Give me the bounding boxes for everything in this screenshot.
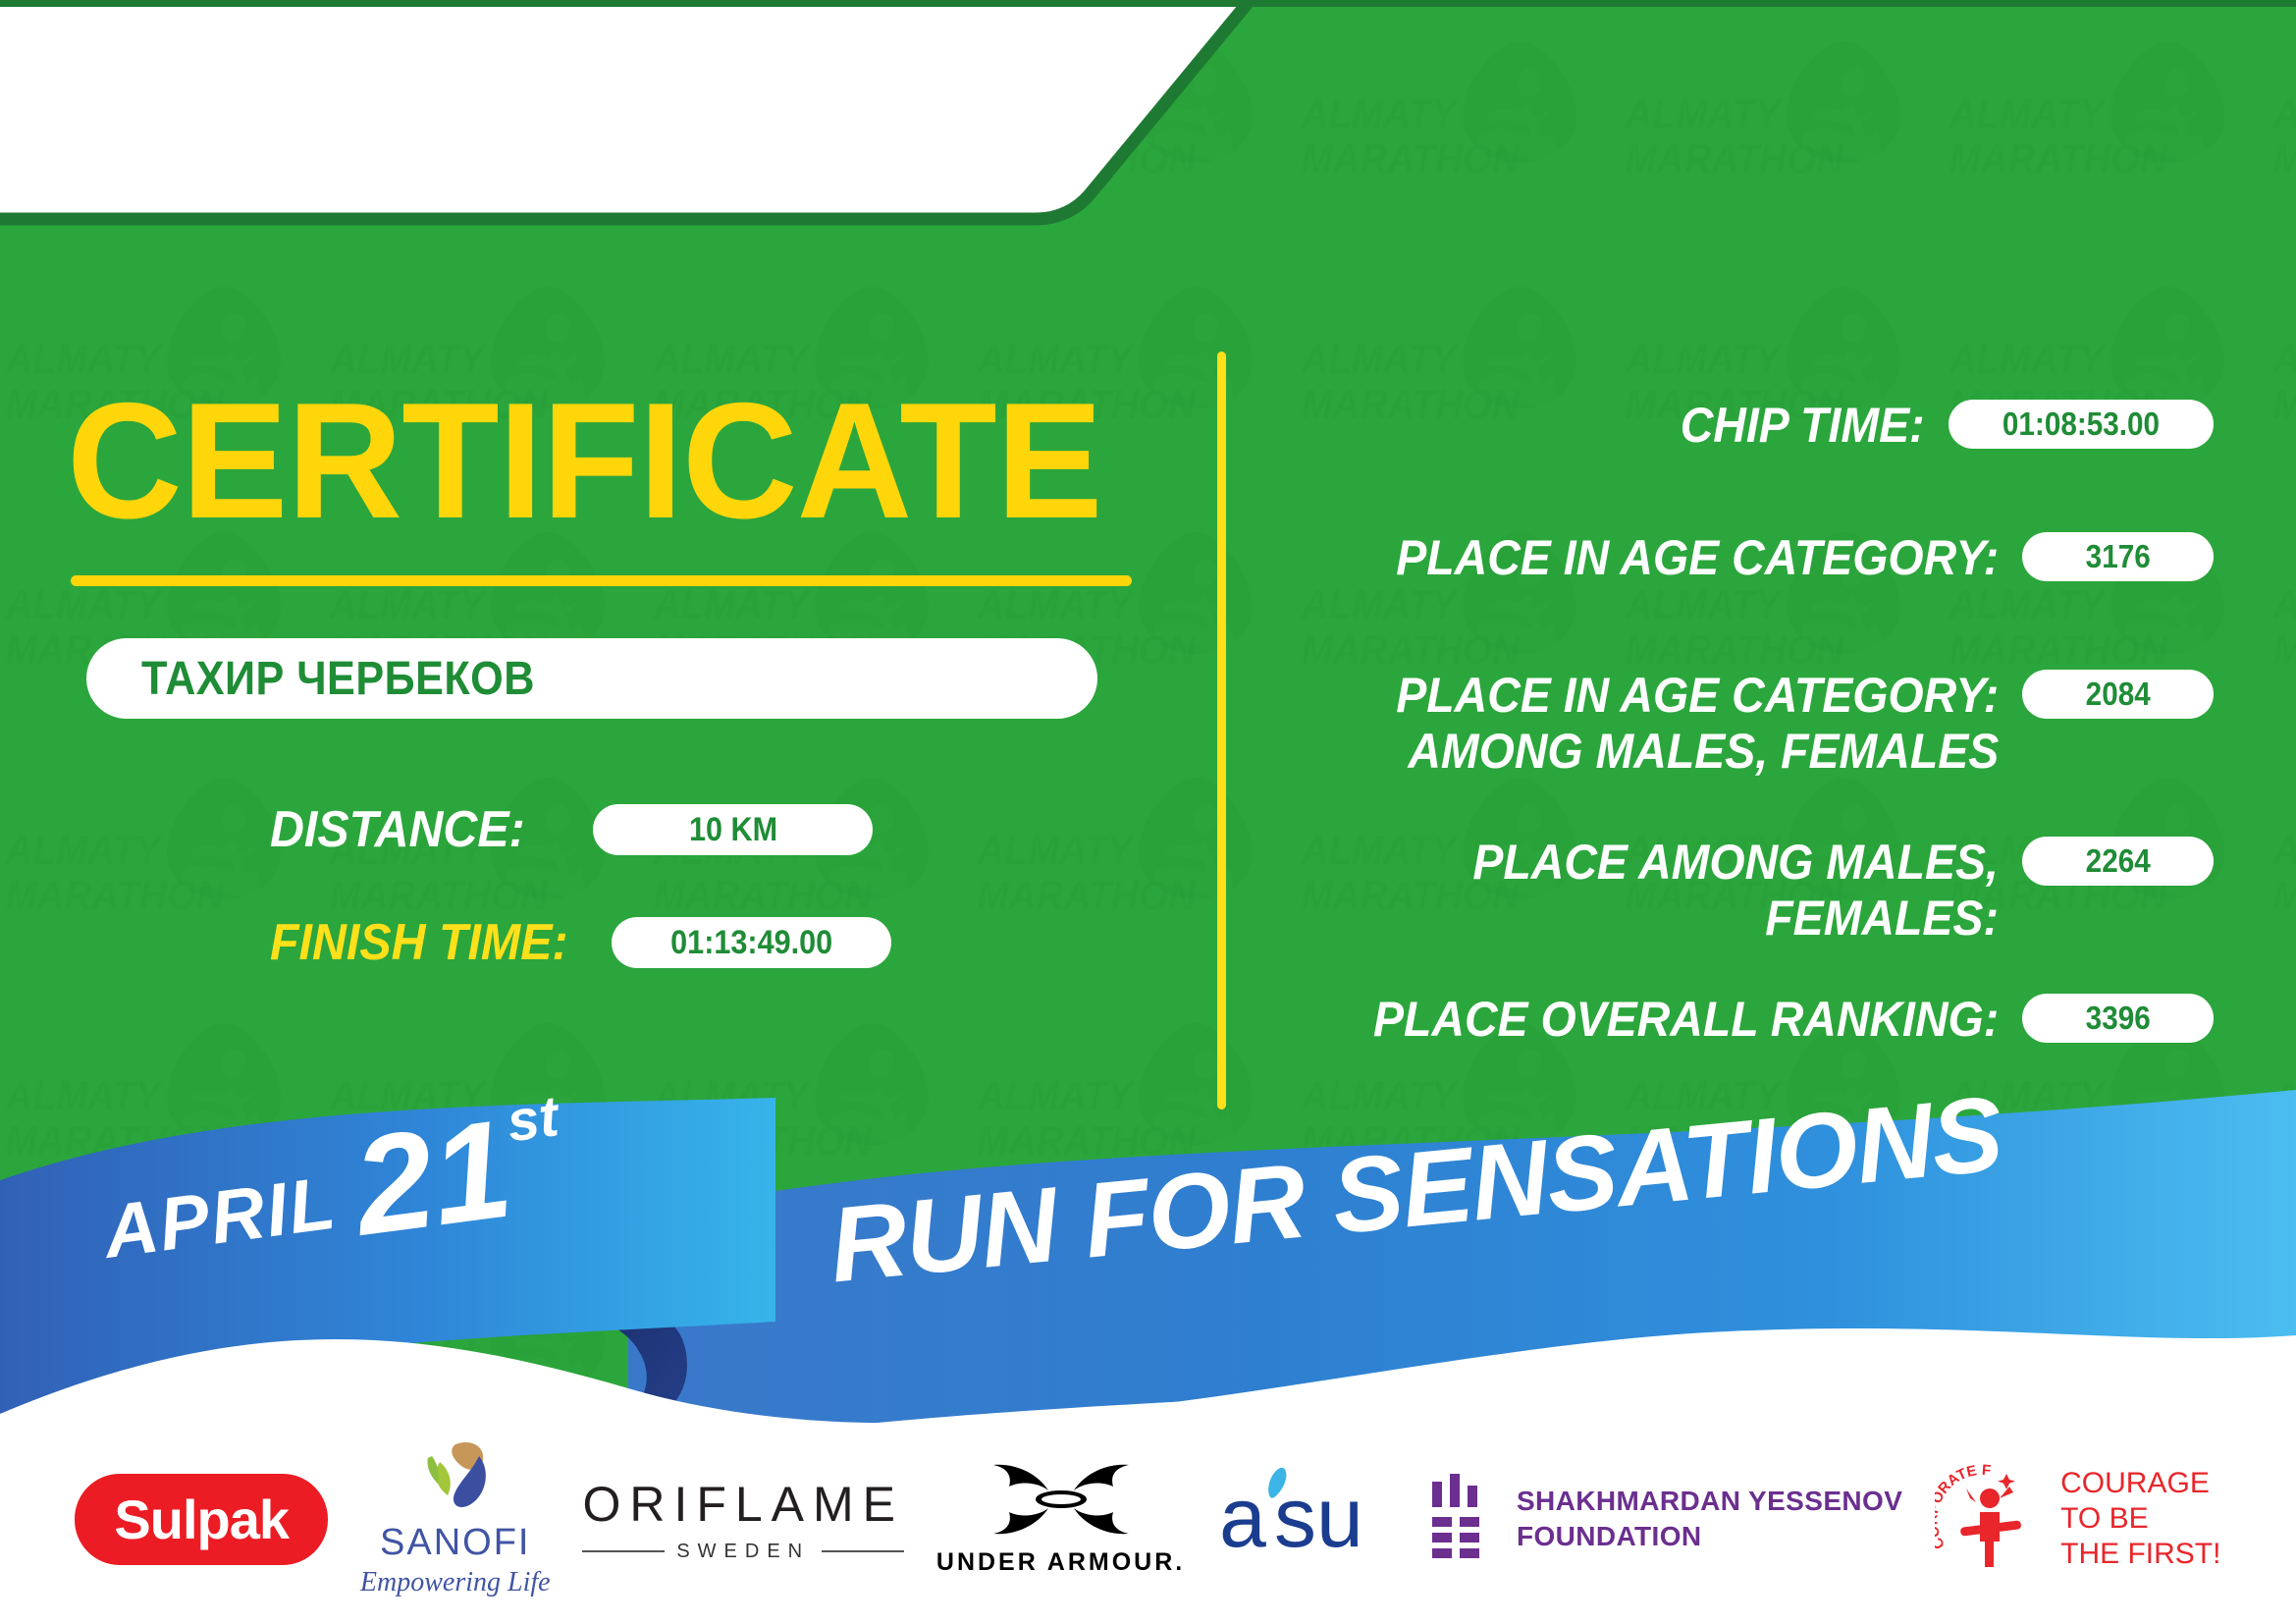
yessenov-mark-icon [1426,1472,1495,1567]
place-age-category-value: 3176 [2085,538,2150,575]
finish-time-row: FINISH TIME: 01:13:49.00 [270,913,891,972]
top-border-rule [0,0,2296,7]
place-age-category-row: PLACE IN AGE CATEGORY: 3176 [1306,530,2214,586]
sanofi-mark-icon [410,1440,501,1518]
sponsor-oriflame: ORIFLAME SWEDEN [582,1476,904,1563]
sponsor-under-armour: UNDER ARMOUR. [936,1461,1185,1577]
sponsor-asu: a su [1217,1464,1394,1575]
under-armour-icon [988,1461,1135,1543]
place-age-category-gender-value-pill: 2084 [2022,670,2214,719]
place-among-gender-value: 2264 [2085,842,2150,880]
courage-line1: COURAGE [2060,1467,2210,1499]
under-armour-name: UNDER ARMOUR. [936,1548,1185,1577]
distance-value-pill: 10 KM [593,804,873,855]
place-among-gender-value-pill: 2264 [2022,837,2214,886]
place-among-gender-row: PLACE AMONG MALES, FEMALES: 2264 [1306,835,2214,947]
sponsor-yessenov-foundation: SHAKHMARDAN YESSENOV FOUNDATION [1426,1472,1902,1567]
yessenov-line2: FOUNDATION [1517,1521,1702,1551]
oriflame-country: SWEDEN [676,1541,810,1563]
oriflame-name: ORIFLAME [582,1476,904,1533]
svg-text:su: su [1274,1471,1363,1562]
sponsor-strip: Sulpak SANOFI Empowering Life ORIFLAME S… [0,1414,2296,1624]
title-underline [71,575,1132,586]
place-overall-ranking-label: PLACE OVERALL RANKING: [1373,992,1999,1048]
courage-runner-icon: CORPORATE FUND [1935,1463,2045,1576]
chip-time-label: CHIP TIME: [1681,398,1925,454]
place-age-category-gender-row: PLACE IN AGE CATEGORY: AMONG MALES, FEMA… [1306,668,2214,780]
chip-time-row: CHIP TIME: 01:08:53.00 [1306,398,2214,454]
header-white-panel [0,0,1276,275]
place-among-gender-label: PLACE AMONG MALES, FEMALES: [1472,835,1999,947]
event-day: 21 [348,1110,517,1248]
finish-time-label: FINISH TIME: [270,913,568,972]
courage-line3: THE FIRST! [2060,1538,2220,1570]
courage-line2: TO BE [2060,1502,2148,1535]
sanofi-name: SANOFI [380,1522,530,1564]
courage-slogan: COURAGE TO BE THE FIRST! [2060,1466,2220,1572]
sponsor-sanofi: SANOFI Empowering Life [360,1440,551,1598]
yessenov-line1: SHAKHMARDAN YESSENOV [1517,1486,1902,1516]
place-overall-ranking-value-pill: 3396 [2022,994,2214,1043]
column-divider [1217,352,1226,1110]
oriflame-sub-row: SWEDEN [582,1541,904,1563]
place-overall-ranking-value: 3396 [2085,1000,2150,1037]
chip-time-value-pill: 01:08:53.00 [1949,400,2214,449]
event-day-suffix: st [504,1088,561,1151]
place-age-category-value-pill: 3176 [2022,532,2214,581]
oriflame-rule-left [582,1550,665,1552]
sponsor-courage-fund: CORPORATE FUND COURAGE TO BE THE FIRST! [1935,1463,2220,1576]
place-overall-ranking-row: PLACE OVERALL RANKING: 3396 [1306,992,2214,1048]
distance-value: 10 KM [689,811,777,849]
place-age-category-label: PLACE IN AGE CATEGORY: [1396,530,1999,586]
page-title: CERTIFICATE [67,378,1102,543]
sulpak-wordmark: Sulpak [75,1474,328,1565]
distance-label: DISTANCE: [270,800,525,859]
participant-name-field: ТАХИР ЧЕРБЕКОВ [86,638,1097,719]
yessenov-name: SHAKHMARDAN YESSENOV FOUNDATION [1517,1484,1902,1554]
header-panel-shape [0,0,1276,275]
place-age-category-gender-label: PLACE IN AGE CATEGORY: AMONG MALES, FEMA… [1396,668,1999,780]
oriflame-rule-right [822,1550,904,1552]
sponsor-sulpak: Sulpak [75,1474,328,1565]
participant-name: ТАХИР ЧЕРБЕКОВ [141,652,535,706]
finish-time-value: 01:13:49.00 [670,924,832,962]
svg-text:a: a [1219,1471,1266,1562]
asu-wordmark: a su [1217,1464,1394,1575]
finish-time-value-pill: 01:13:49.00 [612,917,891,968]
place-age-category-gender-value: 2084 [2085,676,2150,713]
certificate-canvas: ALMATY MARATHON ALMATY [0,0,2296,1624]
sanofi-tagline: Empowering Life [360,1567,551,1598]
distance-row: DISTANCE: 10 KM [270,800,873,859]
chip-time-value: 01:08:53.00 [2002,406,2160,443]
